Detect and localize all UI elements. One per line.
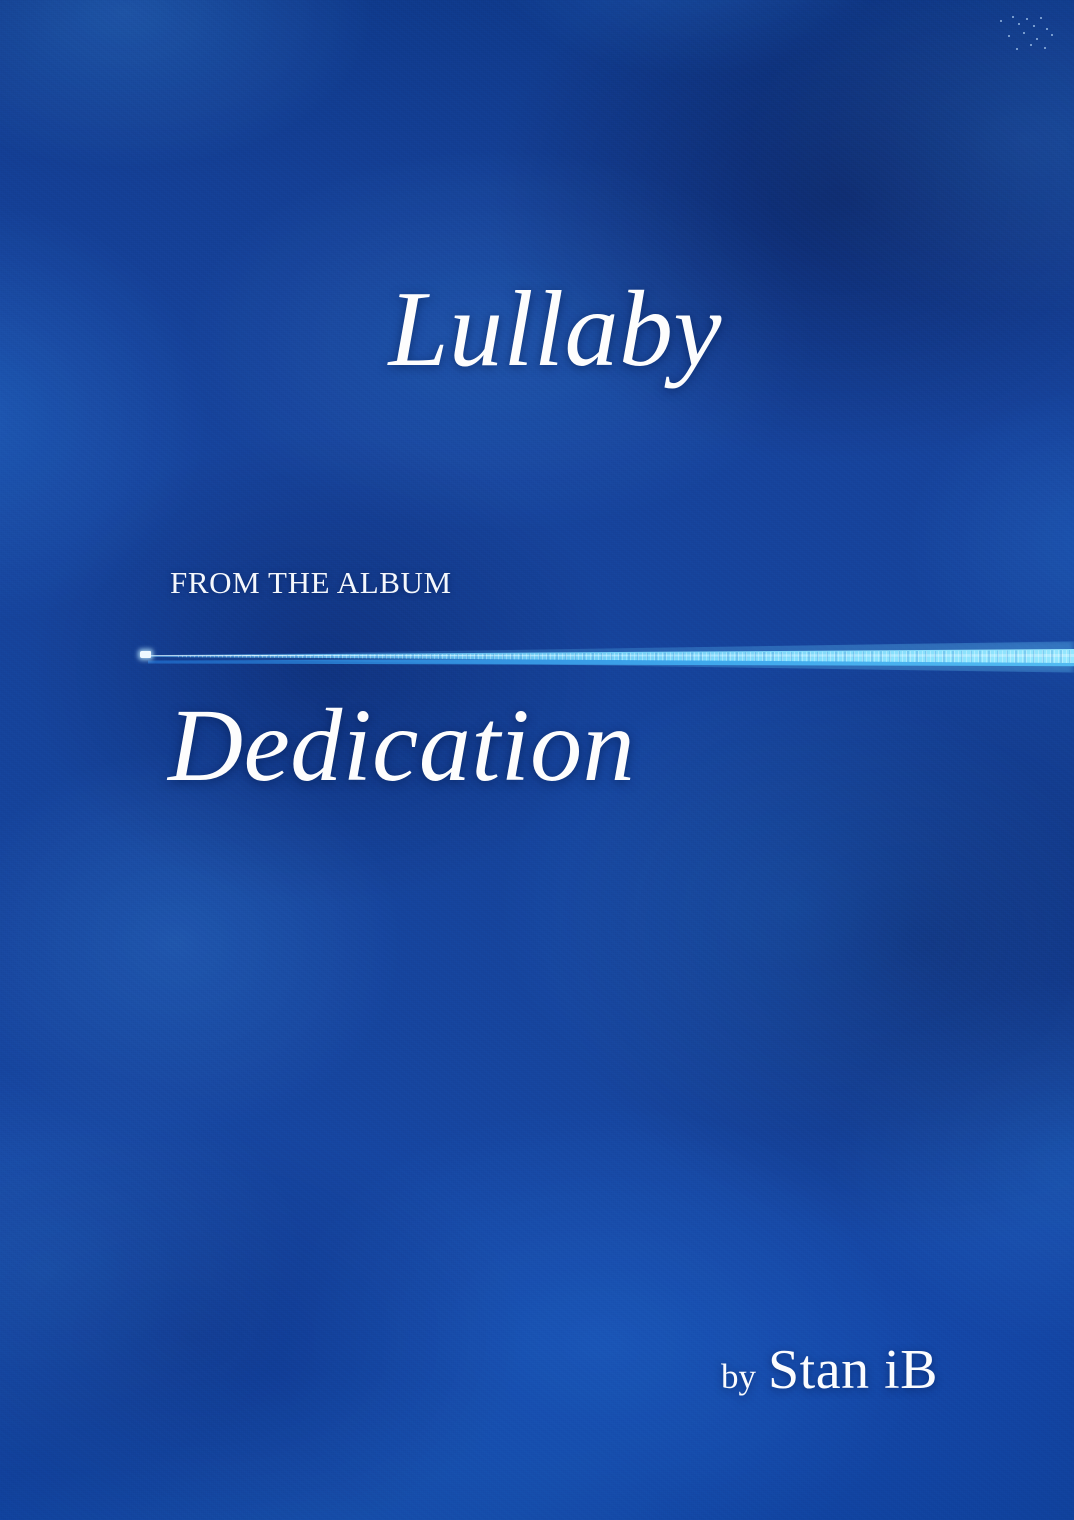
jet-contrail-divider bbox=[138, 640, 1074, 674]
airplane-icon bbox=[140, 651, 151, 658]
poster-content: Lullaby FROM THE ALBUM Dedication by Sta… bbox=[0, 0, 1074, 1520]
album-title: Dedication bbox=[168, 694, 635, 798]
album-cover-poster: Lullaby FROM THE ALBUM Dedication by Sta… bbox=[0, 0, 1074, 1520]
byline: by Stan iB bbox=[721, 1338, 938, 1402]
artist-name: Stan iB bbox=[768, 1338, 938, 1402]
song-title: Lullaby bbox=[0, 276, 722, 384]
album-kicker-label: FROM THE ALBUM bbox=[170, 565, 452, 601]
byline-prefix: by bbox=[721, 1357, 756, 1397]
